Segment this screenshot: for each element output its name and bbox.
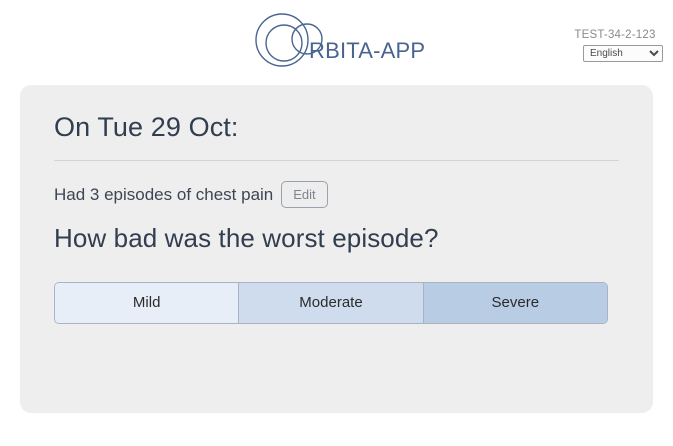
account-id-label: TEST-34-2-123: [567, 28, 663, 42]
edit-button[interactable]: Edit: [281, 181, 327, 208]
severity-option-mild[interactable]: Mild: [55, 283, 239, 323]
page-header: RBITA-APP TEST-34-2-123 English: [0, 0, 673, 78]
brand-logo: RBITA-APP: [252, 12, 412, 68]
severity-selector[interactable]: Mild Moderate Severe: [54, 282, 608, 324]
brand-wordmark: RBITA-APP: [309, 38, 425, 64]
severity-option-moderate[interactable]: Moderate: [239, 283, 423, 323]
episode-summary-text: Had 3 episodes of chest pain: [54, 185, 273, 205]
page-title: On Tue 29 Oct:: [54, 107, 619, 149]
title-divider: [54, 160, 619, 161]
language-select[interactable]: English: [583, 45, 663, 62]
episode-summary-row: Had 3 episodes of chest pain Edit: [54, 181, 619, 208]
diary-entry-card: On Tue 29 Oct: Had 3 episodes of chest p…: [20, 85, 653, 413]
account-area: TEST-34-2-123 English: [567, 28, 663, 62]
question-heading: How bad was the worst episode?: [54, 220, 619, 256]
severity-option-severe[interactable]: Severe: [424, 283, 607, 323]
